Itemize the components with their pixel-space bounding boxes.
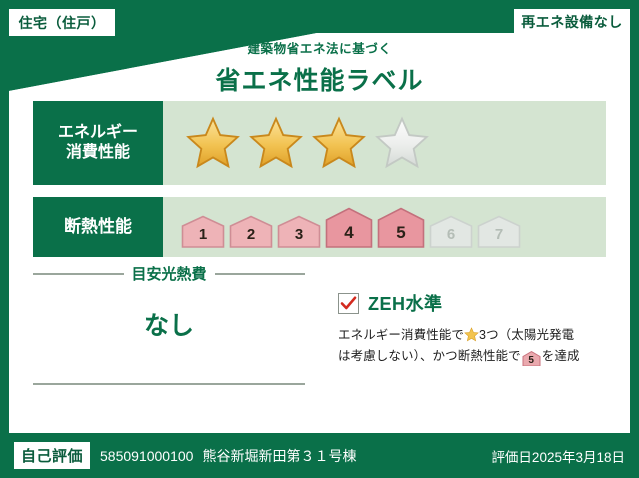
energy-label-line2: 消費性能 — [66, 143, 130, 163]
insulation-level-number: 6 — [447, 226, 455, 243]
certificate-id: 585091000100 — [100, 448, 193, 464]
zeh-title: ZEH水準 — [368, 290, 443, 316]
star-filled-icon — [248, 115, 304, 171]
zeh-block: ZEH水準 エネルギー消費性能で3つ（太陽光発電 は考慮しない）、かつ断熱性能で… — [338, 290, 613, 366]
inline-star-icon — [464, 327, 479, 342]
zeh-desc-part4: を達成 — [542, 349, 580, 363]
star-filled-icon — [311, 115, 367, 171]
energy-performance-value — [163, 115, 606, 171]
housing-type-badge: 住宅（住戸） — [9, 9, 115, 36]
zeh-header: ZEH水準 — [338, 290, 613, 316]
energy-label-root: 住宅（住戸） 再エネ設備なし 建築物省エネ法に基づく 省エネ性能ラベル エネルギ… — [0, 0, 639, 478]
inline-insulation-badge: 5 — [522, 351, 541, 366]
insulation-level-number: 3 — [295, 226, 303, 243]
utility-cost-rule-right — [215, 273, 306, 275]
energy-performance-label: エネルギー 消費性能 — [33, 101, 163, 185]
insulation-level-scale: 1234567 — [163, 207, 521, 248]
title-subtitle: 建築物省エネ法に基づく — [0, 38, 639, 57]
zeh-description: エネルギー消費性能で3つ（太陽光発電 は考慮しない）、かつ断熱性能で5を達成 — [338, 325, 613, 366]
star-rating — [163, 115, 430, 171]
label-title-block: 建築物省エネ法に基づく 省エネ性能ラベル — [0, 38, 639, 97]
star-empty-icon — [374, 115, 430, 171]
zeh-desc-part3: は考慮しない）、かつ断熱性能で — [338, 349, 521, 363]
insulation-level-number: 7 — [495, 226, 503, 243]
utility-cost-rule-left — [33, 273, 124, 275]
utility-cost-bottom-rule — [33, 383, 305, 385]
insulation-level-badge: 7 — [477, 215, 521, 248]
check-icon — [340, 295, 357, 312]
insulation-level-badge: 3 — [277, 215, 321, 248]
utility-cost-title: 目安光熱費 — [132, 263, 207, 284]
star-filled-icon — [185, 115, 241, 171]
zeh-desc-part1: エネルギー消費性能で — [338, 328, 464, 342]
insulation-level-badge: 1 — [181, 215, 225, 248]
insulation-level-number: 2 — [247, 226, 255, 243]
insulation-level-badge: 2 — [229, 215, 273, 248]
evaluation-date: 評価日2025年3月18日 — [491, 446, 625, 466]
utility-cost-header: 目安光熱費 — [33, 263, 305, 284]
renewable-equipment-badge: 再エネ設備なし — [514, 9, 630, 35]
energy-performance-row: エネルギー 消費性能 — [33, 101, 606, 185]
zeh-desc-part2: 3つ（太陽光発電 — [479, 328, 574, 342]
utility-cost-value: なし — [33, 306, 305, 342]
zeh-checkbox[interactable] — [338, 293, 359, 314]
self-evaluation-badge: 自己評価 — [14, 442, 90, 469]
insulation-performance-row: 断熱性能 1234567 — [33, 197, 606, 257]
inline-insulation-badge-num: 5 — [528, 355, 534, 366]
insulation-level-badge: 4 — [325, 207, 373, 248]
page-title: 省エネ性能ラベル — [0, 61, 639, 97]
building-name: 熊谷新堀新田第３１号棟 — [202, 446, 356, 466]
insulation-performance-value: 1234567 — [163, 207, 606, 248]
insulation-performance-label: 断熱性能 — [33, 197, 163, 257]
insulation-level-number: 4 — [344, 223, 353, 243]
insulation-level-number: 1 — [199, 226, 207, 243]
energy-label-line1: エネルギー — [58, 123, 138, 143]
insulation-level-badge: 5 — [377, 207, 425, 248]
label-footer: 自己評価 585091000100 熊谷新堀新田第３１号棟 評価日2025年3月… — [0, 433, 639, 478]
insulation-level-number: 5 — [396, 223, 405, 243]
insulation-level-badge: 6 — [429, 215, 473, 248]
